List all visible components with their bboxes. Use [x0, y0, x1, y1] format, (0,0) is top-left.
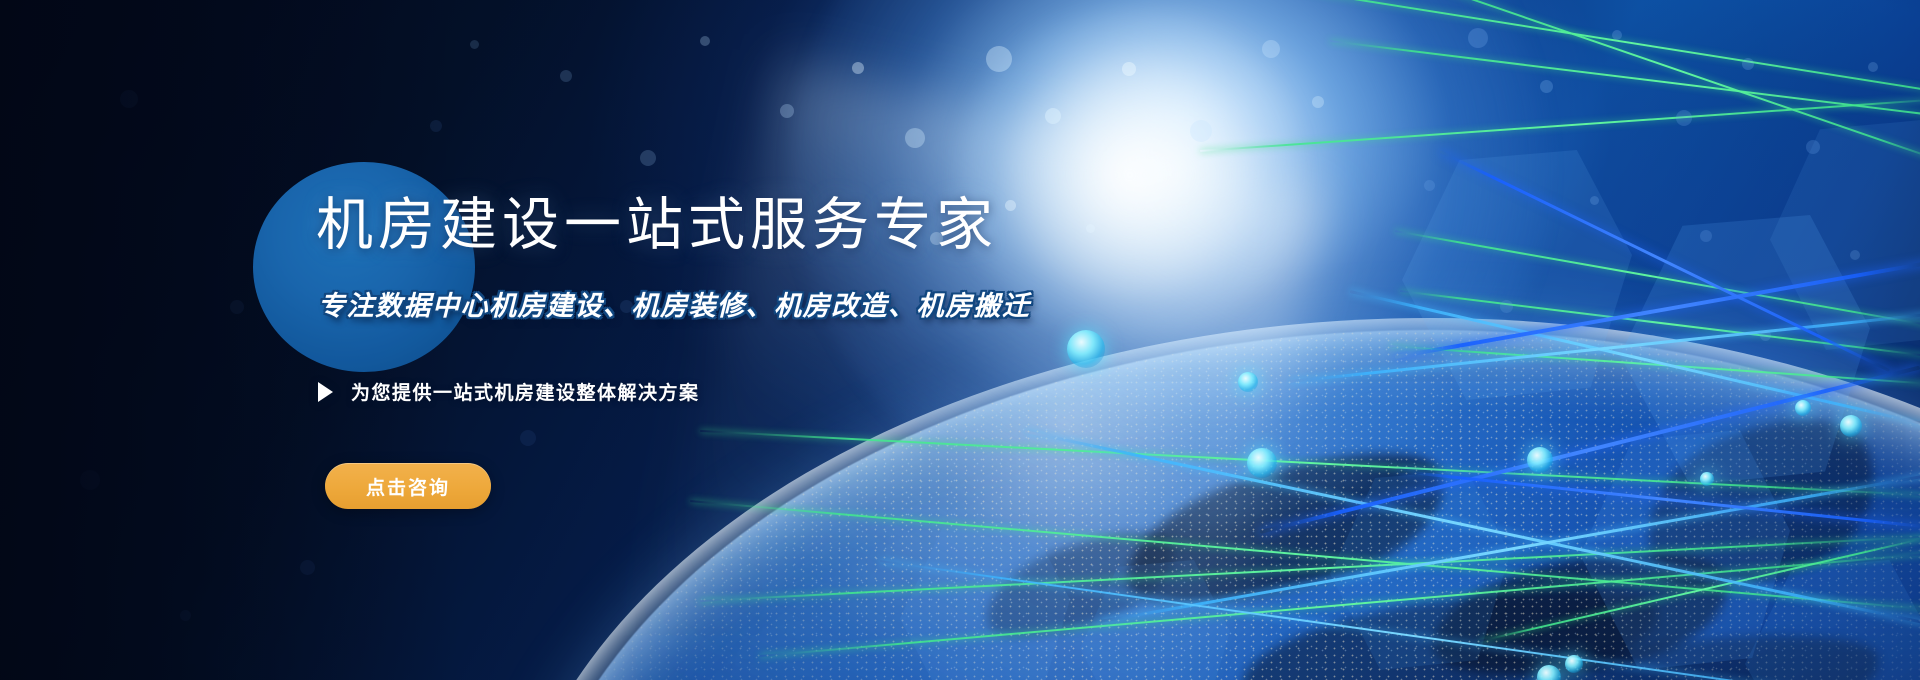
banner-subtitle: 专注数据中心机房建设、机房装修、机房改造、机房搬迁	[318, 284, 1031, 323]
tagline: 为您提供一站式机房建设整体解决方案	[318, 378, 700, 405]
page-title: 机房建设一站式服务专家	[316, 196, 998, 256]
consult-button[interactable]: 点击咨询	[325, 463, 491, 509]
banner-content: 机房建设一站式服务专家 专注数据中心机房建设、机房装修、机房改造、机房搬迁 为您…	[0, 0, 1920, 680]
play-triangle-icon	[318, 382, 333, 402]
hero-banner: 机房建设一站式服务专家 专注数据中心机房建设、机房装修、机房改造、机房搬迁 为您…	[0, 0, 1920, 680]
tagline-label: 为您提供一站式机房建设整体解决方案	[351, 378, 700, 405]
